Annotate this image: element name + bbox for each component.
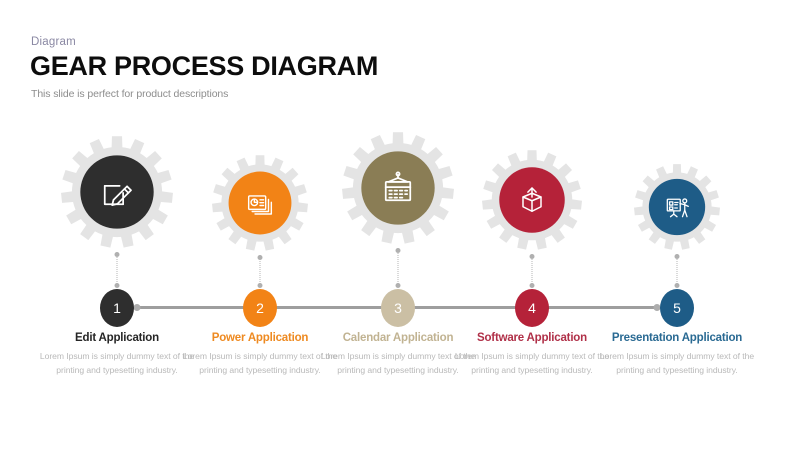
calendar-icon xyxy=(377,167,419,209)
gear-step-1[interactable] xyxy=(61,136,173,248)
connector-line xyxy=(117,254,118,286)
connector-dot-top xyxy=(530,254,535,259)
page-title: GEAR PROCESS DIAGRAM xyxy=(30,52,378,80)
dotted-connector-4 xyxy=(529,256,535,286)
connector-dot-bottom xyxy=(675,283,680,288)
box-upload-icon xyxy=(514,182,550,218)
dotted-connector-2 xyxy=(257,257,263,286)
gear-step-4[interactable] xyxy=(482,150,582,250)
connector-dot-top xyxy=(675,254,680,259)
dotted-connector-1 xyxy=(114,254,120,286)
dotted-connector-3 xyxy=(395,250,401,286)
connector-dot-top xyxy=(396,248,401,253)
connector-line xyxy=(260,257,261,286)
connector-line xyxy=(398,250,399,286)
presenter-board-icon xyxy=(662,192,693,223)
connector-line xyxy=(677,256,678,286)
step-number-badge-5[interactable]: 5 xyxy=(660,289,694,327)
step-title: Edit Application xyxy=(35,332,200,344)
timeline-end-dot-left xyxy=(134,304,141,311)
dotted-connector-5 xyxy=(674,256,680,286)
gear-step-3[interactable] xyxy=(342,132,454,244)
connector-dot-top xyxy=(115,252,120,257)
connector-line xyxy=(532,256,533,286)
step-number-badge-1[interactable]: 1 xyxy=(100,289,134,327)
step-description: Lorem Ipsum is simply dummy text of the … xyxy=(35,350,200,378)
slide-canvas: Diagram GEAR PROCESS DIAGRAM This slide … xyxy=(0,0,800,450)
gear-step-2[interactable] xyxy=(212,155,308,251)
connector-dot-bottom xyxy=(115,283,120,288)
slide-subtitle: This slide is perfect for product descri… xyxy=(31,88,228,100)
connector-dot-bottom xyxy=(258,283,263,288)
step-description: Lorem Ipsum is simply dummy text of the … xyxy=(590,350,765,378)
step-number-badge-4[interactable]: 4 xyxy=(515,289,549,327)
step-number-badge-3[interactable]: 3 xyxy=(381,289,415,327)
step-caption-5: Presentation ApplicationLorem Ipsum is s… xyxy=(590,332,765,378)
connector-dot-top xyxy=(258,255,263,260)
step-number-badge-2[interactable]: 2 xyxy=(243,289,277,327)
connector-dot-bottom xyxy=(396,283,401,288)
connector-dot-bottom xyxy=(530,283,535,288)
gear-step-5[interactable] xyxy=(634,164,720,250)
step-caption-1: Edit ApplicationLorem Ipsum is simply du… xyxy=(35,332,200,378)
presentation-slides-icon xyxy=(243,186,277,220)
slide-kicker: Diagram xyxy=(31,36,76,48)
step-title: Presentation Application xyxy=(590,332,765,344)
pencil-edit-icon xyxy=(96,171,138,213)
